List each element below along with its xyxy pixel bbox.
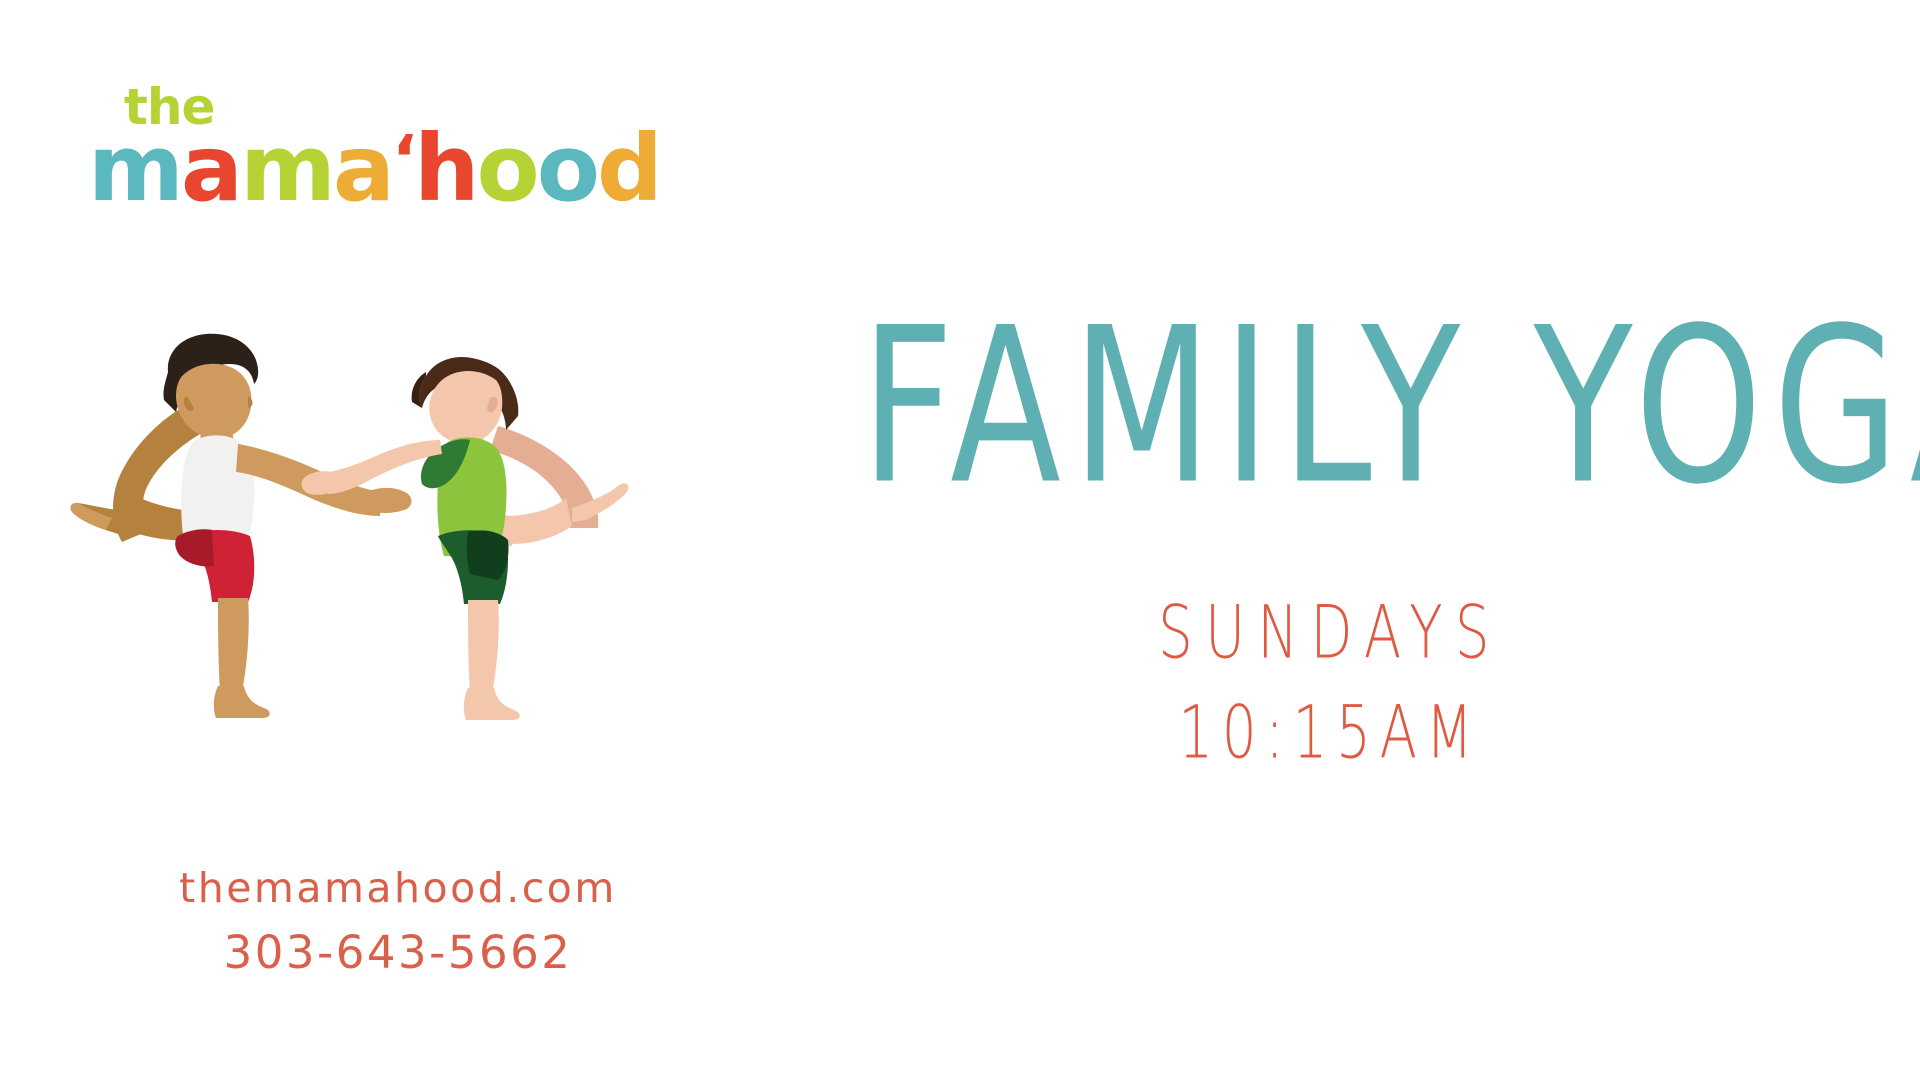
right-figure-shorts-shade (467, 530, 509, 580)
left-figure-standing-leg (218, 598, 249, 692)
logo-wordmark: mama‘hood (88, 112, 660, 217)
right-figure-standing-foot (464, 688, 520, 720)
logo-letter-o1: o (477, 121, 537, 217)
yoga-figure-left (71, 334, 412, 718)
contact-phone[interactable]: 303-643-5662 (118, 926, 678, 980)
schedule-time: 10:15AM (881, 694, 1779, 772)
logo-apostrophe: ‘ (392, 112, 414, 208)
brand-logo[interactable]: the mama‘hood (88, 82, 698, 212)
yoga-illustration (60, 330, 710, 750)
contact-website[interactable]: themamahood.com (118, 862, 678, 914)
left-figure-hand (370, 488, 411, 513)
logo-letter-m1: m (88, 121, 181, 217)
left-figure-shorts-shade (175, 529, 214, 566)
schedule-day: SUNDAYS (881, 594, 1779, 672)
logo-letter-a2: a (333, 121, 392, 217)
poster-canvas: the mama‘hood (0, 0, 1920, 1080)
logo-letter-m2: m (240, 121, 333, 217)
logo-letter-d: d (597, 121, 660, 217)
right-figure-standing-leg (468, 600, 499, 694)
yoga-figure-right (302, 357, 629, 720)
left-figure-standing-foot (214, 686, 270, 718)
headline-block: FAMILY YOGA SUNDAYS 10:15AM (820, 300, 1840, 760)
page-title: FAMILY YOGA (861, 300, 1799, 515)
logo-letter-o2: o (537, 121, 597, 217)
contact-block: themamahood.com 303-643-5662 (118, 862, 678, 980)
logo-letter-a1: a (181, 121, 240, 217)
logo-letter-h: h (414, 121, 477, 217)
